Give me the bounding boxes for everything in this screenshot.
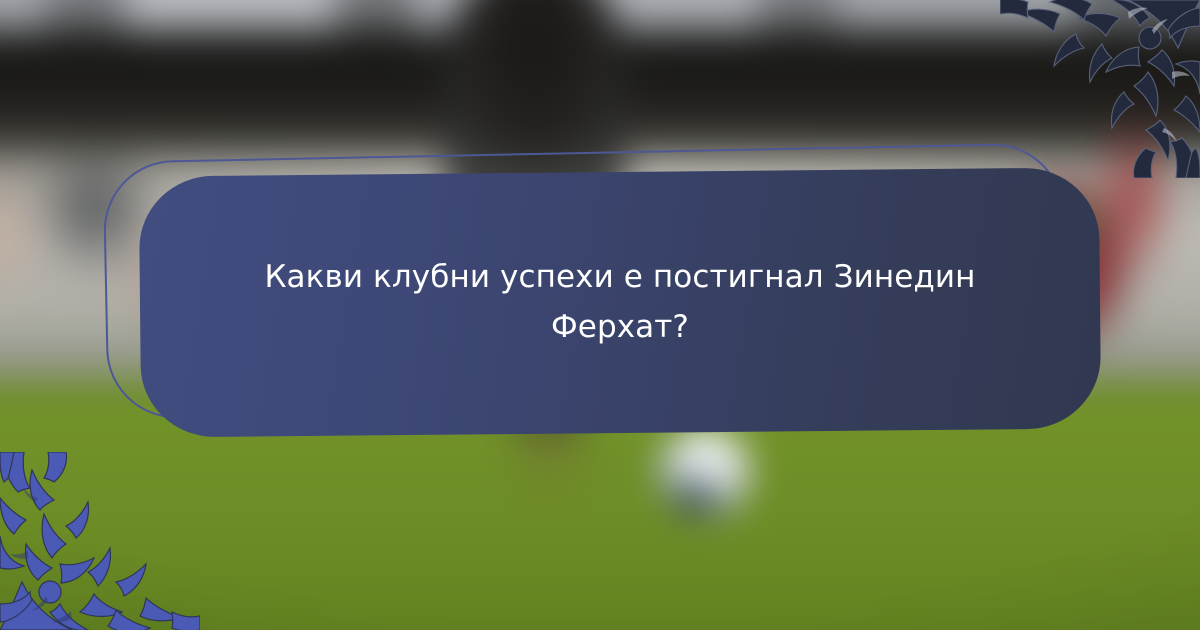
question-card: Какви клубни успехи е постигнал Зинедин … [139, 167, 1101, 437]
question-text: Какви клубни успехи е постигнал Зинедин … [200, 252, 1040, 352]
damask-ornament-bottom-left [0, 452, 200, 630]
social-card-canvas: Какви клубни успехи е постигнал Зинедин … [0, 0, 1200, 630]
damask-ornament-top-right [1000, 0, 1200, 178]
